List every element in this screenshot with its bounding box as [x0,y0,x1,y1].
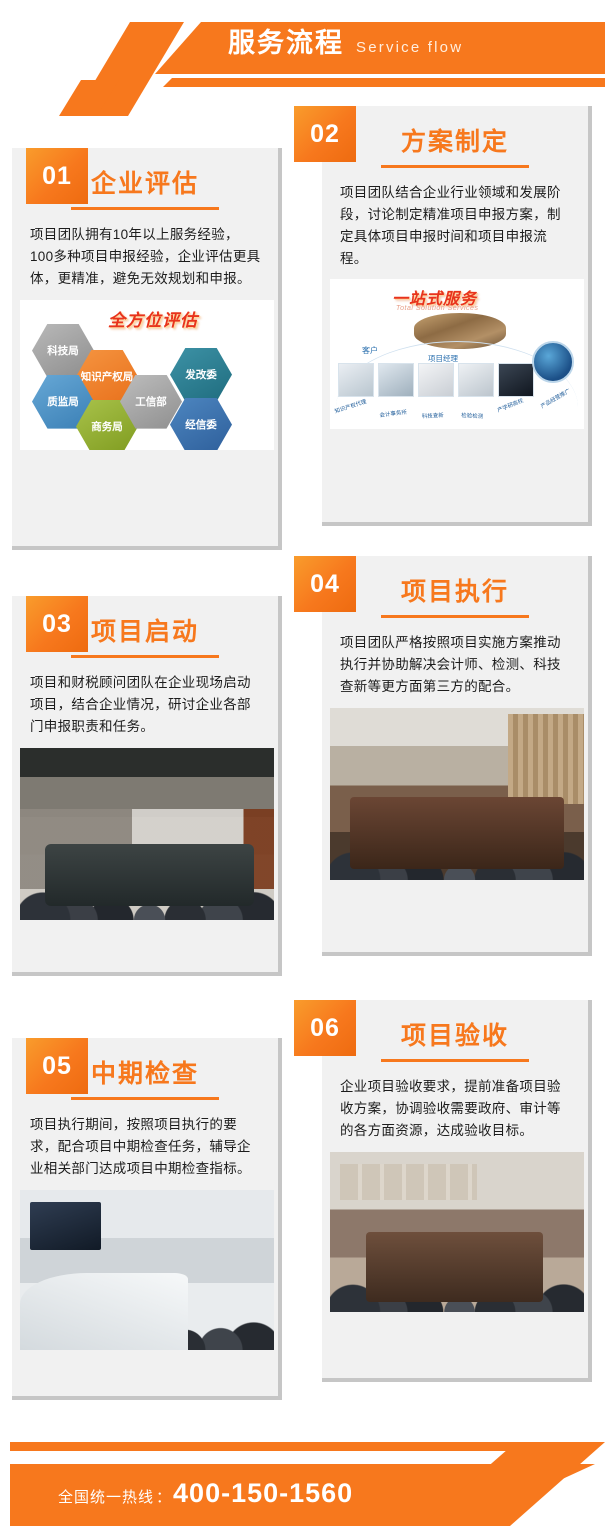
onestop-tile-1 [338,363,374,397]
onestop-label-4: 产学研高校 [496,397,525,415]
hotline-label: 全国统一热线 [58,1486,154,1507]
step-number-badge-03: 03 [26,596,88,652]
photo-people-silhouettes [330,1238,584,1312]
onestop-infographic: 一站式服务 Total Solution Services 客户 项目经理 [330,279,584,429]
step-photo-05 [20,1190,274,1350]
step-title-04: 项目执行 [322,556,588,618]
step-number-badge-04: 04 [294,556,356,612]
footer-accent-line [10,1442,595,1451]
step-card-06[interactable]: 06 项目验收 企业项目验收要求，提前准备项目验收方案，协调验收需要政府、审计等… [322,1000,592,1382]
step-photo-06 [330,1152,584,1312]
step-title-text-05: 中期检查 [91,1060,199,1088]
step-title-text-06: 项目验收 [401,1022,509,1050]
hex-node-fagai: 发改委 [170,348,232,402]
onestop-subtitle: Total Solution Services [396,305,478,312]
header-title-group: 服务流程 Service flow [228,30,463,57]
onestop-label-0: 知识产权代理 [334,398,368,416]
photo-people-silhouettes [20,1276,274,1350]
onestop-client-label: 客户 [362,345,378,356]
step-card-03[interactable]: 03 项目启动 项目和财税顾问团队在企业现场启动项目，结合企业情况，研讨企业各部… [12,596,282,976]
service-flow-poster: 服务流程 Service flow 01 企业评估 项目团队拥有10年以上服务经… [0,0,605,1538]
step-media-02: 一站式服务 Total Solution Services 客户 项目经理 [322,279,588,437]
hex-infographic: 全方位评估 科技局 知识产权局 质监局 商务局 工信部 发改委 经信委 [20,300,274,450]
step-body-05: 项目执行期间，按照项目执行的要求，配合项目中期检查任务，辅导企业相关部门达成项目… [12,1100,278,1190]
hex-infographic-title: 全方位评估 [108,306,198,331]
step-number-badge-06: 06 [294,1000,356,1056]
step-title-text-04: 项目执行 [401,578,509,606]
step-title-text-03: 项目启动 [91,618,199,646]
step-photo-04 [330,708,584,880]
step-card-05[interactable]: 05 中期检查 项目执行期间，按照项目执行的要求，配合项目中期检查任务，辅导企业… [12,1038,282,1400]
step-card-02[interactable]: 02 方案制定 项目团队结合企业行业领域和发展阶段，讨论制定精准项目申报方案，制… [322,106,592,526]
onestop-tile-4 [458,363,494,397]
onestop-tile-2 [378,363,414,397]
step-card-01[interactable]: 01 企业评估 项目团队拥有10年以上服务经验，100多种项目申报经验，企业评估… [12,148,282,550]
step-media-06 [322,1152,588,1320]
hotline-colon: ： [156,1486,171,1507]
header-banner-underline [163,78,605,87]
step-media-03 [12,748,278,928]
step-media-04 [322,708,588,888]
page-footer: 全国统一热线 ： 400-150-1560 [0,1412,605,1538]
onestop-label-1: 会计事务所 [379,408,407,419]
certification-seal-icon [532,341,574,383]
onestop-label-2: 科技查新 [422,411,444,420]
onestop-label-row: 知识产权代理 会计事务所 科技查新 检验检测 产学研高校 产品经营推广 [330,399,584,427]
page-subtitle: Service flow [356,40,463,55]
step-number-badge-02: 02 [294,106,356,162]
step-title-text-02: 方案制定 [401,128,509,156]
steps-row-2: 03 项目启动 项目和财税顾问团队在企业现场启动项目，结合企业情况，研讨企业各部… [0,550,605,1000]
photo-people-silhouettes [330,800,584,879]
step-photo-03 [20,748,274,920]
step-body-02: 项目团队结合企业行业领域和发展阶段，讨论制定精准项目申报方案，制定具体项目申报时… [322,168,588,279]
hotline-number[interactable]: 400-150-1560 [173,1478,353,1509]
step-title-02: 方案制定 [322,106,588,168]
step-title-text-01: 企业评估 [91,170,199,198]
step-media-01: 全方位评估 科技局 知识产权局 质监局 商务局 工信部 发改委 经信委 [12,300,278,458]
step-media-05 [12,1190,278,1358]
photo-people-silhouettes [20,840,274,919]
step-body-01: 项目团队拥有10年以上服务经验，100多种项目申报经验，企业评估更具体，更精准，… [12,210,278,300]
hotline-group: 全国统一热线 ： 400-150-1560 [58,1478,353,1509]
step-body-04: 项目团队严格按照项目实施方案推动执行并协助解决会计师、检测、科技查新等更方面第三… [322,618,588,708]
steps-row-3: 05 中期检查 项目执行期间，按照项目执行的要求，配合项目中期检查任务，辅导企业… [0,1000,605,1412]
step-body-03: 项目和财税顾问团队在企业现场启动项目，结合企业情况，研讨企业各部门申报职责和任务… [12,658,278,748]
step-number-badge-05: 05 [26,1038,88,1094]
step-body-06: 企业项目验收要求，提前准备项目验收方案，协调验收需要政府、审计等的各方面资源，达… [322,1062,588,1152]
step-title-06: 项目验收 [322,1000,588,1062]
steps-grid: 01 企业评估 项目团队拥有10年以上服务经验，100多种项目申报经验，企业评估… [0,106,605,1412]
step-card-04[interactable]: 04 项目执行 项目团队严格按照项目实施方案推动执行并协助解决会计师、检测、科技… [322,556,592,956]
onestop-tile-5 [498,363,534,397]
page-header: 服务流程 Service flow [0,0,605,116]
step-number-badge-01: 01 [26,148,88,204]
steps-row-1: 01 企业评估 项目团队拥有10年以上服务经验，100多种项目申报经验，企业评估… [0,106,605,550]
onestop-label-3: 检验检测 [461,411,483,420]
onestop-tile-3 [418,363,454,397]
page-title: 服务流程 [228,30,344,57]
